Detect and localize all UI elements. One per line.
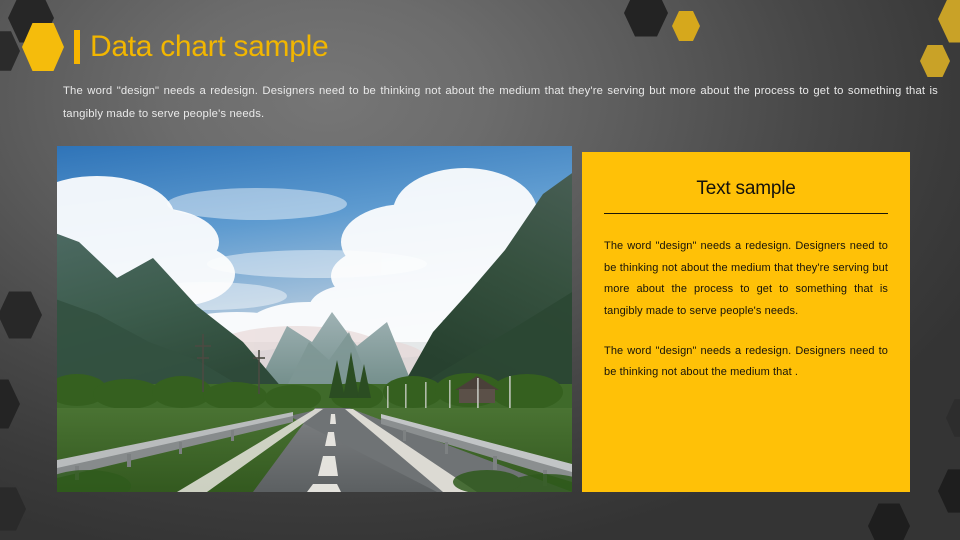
slide-canvas: Data chart sample The word "design" need… bbox=[0, 0, 960, 540]
hexagon-yellow-top-center bbox=[672, 10, 700, 42]
page-title: Data chart sample bbox=[90, 32, 328, 62]
title-accent-bar bbox=[74, 30, 80, 64]
hexagon-dark-bottom-right-2 bbox=[938, 468, 960, 514]
hexagon-yellow-right-top bbox=[938, 0, 960, 44]
page-title-row: Data chart sample bbox=[22, 21, 328, 73]
landscape-photo-graphic bbox=[57, 146, 572, 492]
panel-paragraph: The word "design" needs a redesign. Desi… bbox=[604, 341, 888, 384]
hexagon-dark-bottom-left bbox=[0, 486, 26, 532]
landscape-photo bbox=[57, 146, 572, 492]
panel-body: The word "design" needs a redesign. Desi… bbox=[604, 214, 888, 384]
hexagon-dark-right-lower bbox=[946, 398, 960, 438]
hexagon-dark-left-lower bbox=[0, 378, 20, 430]
subtitle-text: The word "design" needs a redesign. Desi… bbox=[63, 80, 938, 126]
hexagon-dark-top-center bbox=[624, 0, 668, 38]
hexagon-dark-left-mid bbox=[0, 290, 42, 340]
hexagon-yellow-right-upper bbox=[920, 44, 950, 78]
hexagon-dark-bottom-right-1 bbox=[868, 502, 910, 540]
panel-paragraph: The word "design" needs a redesign. Desi… bbox=[604, 236, 888, 322]
panel-heading: Text sample bbox=[604, 174, 888, 201]
text-sample-panel: Text sample The word "design" needs a re… bbox=[582, 152, 910, 492]
hexagon-icon bbox=[22, 22, 64, 72]
